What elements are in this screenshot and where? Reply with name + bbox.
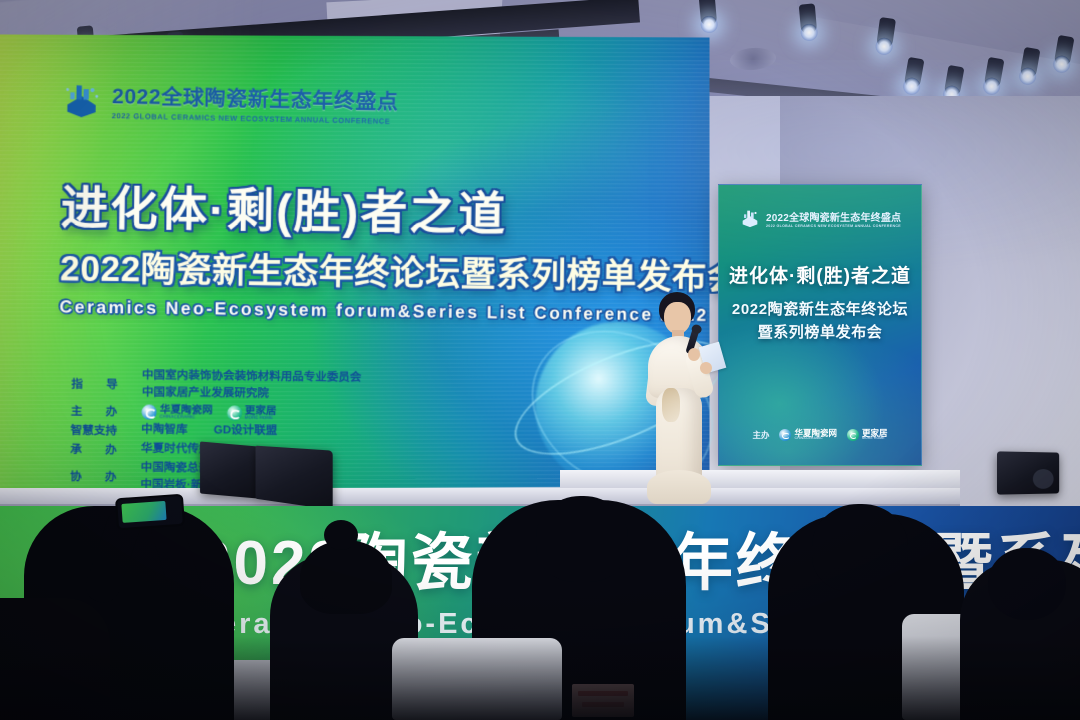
credit-row: 主 办 华夏陶瓷网 CHINACERAMIC 更家居 MORE HOME (71, 403, 361, 422)
side-footer-key: 主办 (752, 429, 769, 441)
credit-key: 智慧支持 (71, 422, 134, 439)
side-banner-logo-cn: 2022全球陶瓷新生态年终盛点 (766, 209, 901, 224)
audience-head (988, 548, 1066, 620)
credit-row: 智慧支持 中陶智库 GD设计联盟 (71, 422, 361, 441)
stage-monitor-speaker (200, 441, 258, 498)
credit-value-line: 中国室内装饰协会装饰材料用品专业委员会 (142, 368, 362, 386)
event-host (632, 292, 728, 504)
credit-key: 主 办 (71, 403, 134, 420)
conference-emblem-icon (60, 78, 103, 121)
audience-member (0, 598, 110, 720)
placard-text-line (578, 691, 628, 696)
sponsor-name-en: CHINACERAMIC (160, 415, 213, 420)
host-hand-right (700, 362, 712, 374)
sponsor-name-en: CHINACERAMIC (794, 437, 837, 441)
stage-monitor-speaker (256, 446, 333, 510)
sponsor-mark-icon (227, 405, 242, 420)
headline-main: 进化体·剩(胜)者之道 (61, 169, 744, 248)
spotlight-icon (799, 3, 818, 34)
audience-hair-bun (324, 520, 358, 550)
side-vertical-banner: 2022全球陶瓷新生态年终盛点 2022 GLOBAL CERAMICS NEW… (718, 184, 922, 466)
credit-key: 指 导 (71, 376, 134, 393)
sponsor-logo: 华夏陶瓷网 CHINACERAMIC (779, 429, 837, 441)
audience-head (812, 504, 908, 592)
sponsor-name-en: MORE HOME (245, 416, 277, 421)
credit-value-line: 中国家居产业发展研究院 (142, 385, 362, 403)
led-top-logo-bar: 2022全球陶瓷新生态年终盛点 2022 GLOBAL CERAMICS NEW… (60, 78, 398, 127)
smartphone-icon (117, 496, 183, 528)
sponsor-mark-icon (847, 429, 859, 441)
led-top-logo-cn: 2022全球陶瓷新生态年终盛点 (112, 80, 399, 116)
placard-text-line (582, 702, 624, 707)
conference-photo-scene: 2022全球陶瓷新生态年终盛点 2022 GLOBAL CERAMICS NEW… (0, 0, 1080, 720)
sponsor-logo: 华夏陶瓷网 CHINACERAMIC (141, 404, 212, 420)
sponsor-mark-icon (779, 429, 791, 441)
side-banner-glow (718, 325, 922, 466)
organizer-logos: 华夏陶瓷网 CHINACERAMIC 更家居 MORE HOME (141, 404, 276, 421)
table-name-placard (572, 684, 634, 717)
stage-monitor-speaker (997, 451, 1059, 494)
side-banner-logo-en: 2022 GLOBAL CERAMICS NEW ECOSYSTEM ANNUA… (766, 224, 901, 228)
credit-value-line: 中陶智库 (141, 423, 188, 439)
spotlight-icon (699, 0, 718, 27)
credit-value-line: GD设计联盟 (214, 424, 278, 440)
credit-key: 协 办 (70, 468, 133, 485)
sponsor-mark-icon (141, 404, 156, 419)
host-hand-left (688, 348, 700, 361)
audience-chair (392, 638, 562, 720)
side-banner-subline: 2022陶瓷新生态年终论坛 暨系列榜单发布会 (719, 299, 921, 344)
side-banner-footer: 主办 华夏陶瓷网 CHINACERAMIC 更家居 MORE HOME (719, 429, 921, 441)
audience-head (536, 496, 628, 582)
sponsor-name-en: MORE HOME (862, 437, 888, 441)
side-banner-logo-bar: 2022全球陶瓷新生态年终盛点 2022 GLOBAL CERAMICS NEW… (739, 207, 901, 229)
host-gown-embroidery (662, 388, 680, 422)
sponsor-logo: 更家居 MORE HOME (847, 429, 888, 441)
credit-row: 指 导 中国室内装饰协会装饰材料用品专业委员会 中国家居产业发展研究院 (71, 368, 361, 403)
conference-emblem-icon (739, 207, 761, 229)
main-led-screen: 2022全球陶瓷新生态年终盛点 2022 GLOBAL CERAMICS NEW… (0, 34, 710, 489)
credit-value: 中国室内装饰协会装饰材料用品专业委员会 中国家居产业发展研究院 (142, 368, 362, 403)
audience-hair (300, 540, 392, 614)
credit-key: 承 办 (70, 441, 133, 458)
credit-value: 中陶智库 GD设计联盟 (141, 423, 277, 440)
side-banner-headline: 进化体·剩(胜)者之道 (719, 261, 921, 288)
sponsor-logo: 更家居 MORE HOME (227, 405, 277, 421)
